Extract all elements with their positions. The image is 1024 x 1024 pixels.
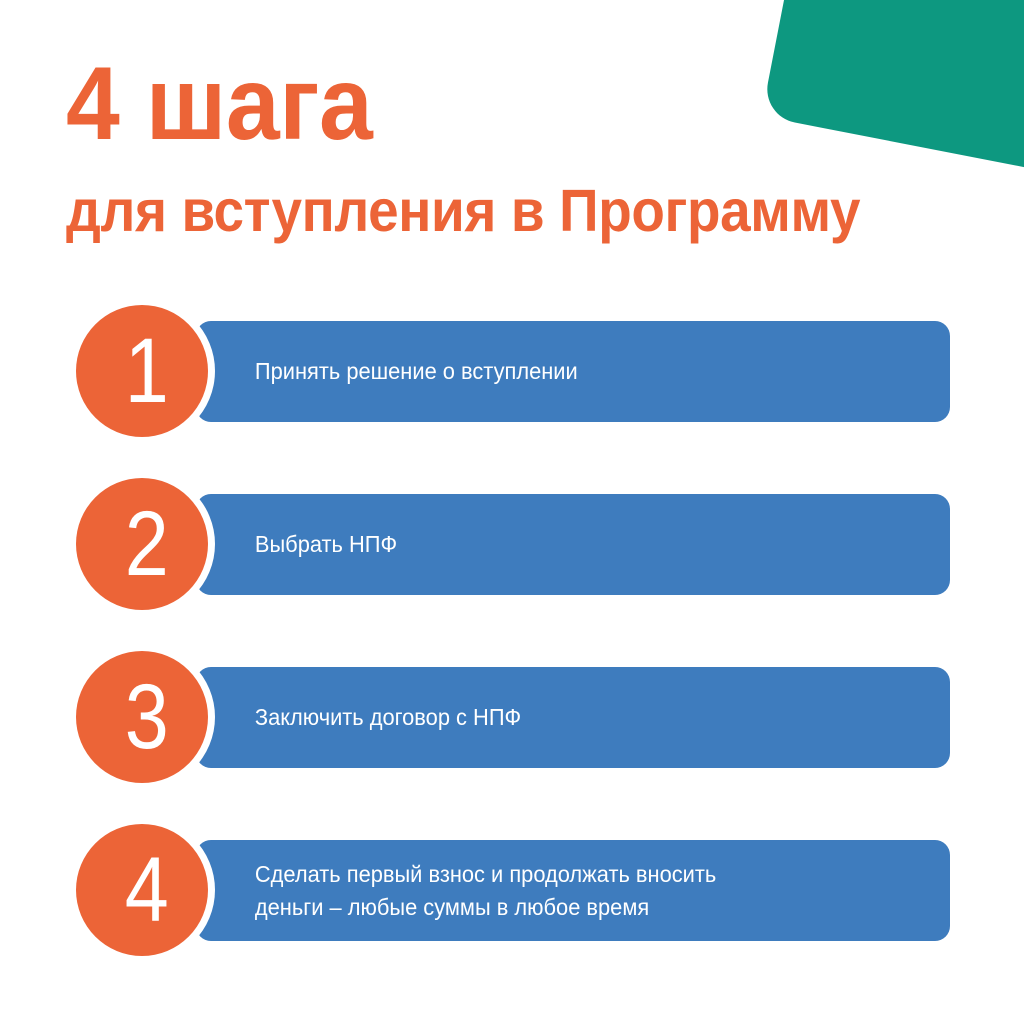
step-item-3: Заключить договор с НПФ 3 (0, 651, 1024, 784)
step-badge-3: 3 (76, 651, 208, 783)
page-title: 4 шага (66, 52, 903, 156)
step-bar-2: Выбрать НПФ (196, 494, 950, 595)
page-subtitle: для вступления в Программу (66, 182, 903, 241)
step-number-1: 1 (125, 325, 169, 417)
step-label-2: Выбрать НПФ (196, 528, 420, 561)
steps-list: Принять решение о вступлении 1 Выбрать Н… (0, 305, 1024, 957)
step-item-1: Принять решение о вступлении 1 (0, 305, 1024, 438)
infographic-canvas: 4 шага для вступления в Программу Принят… (0, 0, 1024, 1024)
step-item-2: Выбрать НПФ 2 (0, 478, 1024, 611)
step-item-4: Сделать первый взнос и продолжать вносит… (0, 824, 1024, 957)
step-label-4: Сделать первый взнос и продолжать вносит… (196, 858, 739, 923)
step-label-3: Заключить договор с НПФ (196, 701, 544, 734)
step-bar-4: Сделать первый взнос и продолжать вносит… (196, 840, 950, 941)
step-badge-2: 2 (76, 478, 208, 610)
step-number-4: 4 (125, 844, 169, 936)
step-badge-1: 1 (76, 305, 208, 437)
step-badge-4: 4 (76, 824, 208, 956)
step-number-3: 3 (125, 671, 169, 763)
step-bar-1: Принять решение о вступлении (196, 321, 950, 422)
step-number-2: 2 (125, 498, 169, 590)
step-bar-3: Заключить договор с НПФ (196, 667, 950, 768)
step-label-1: Принять решение о вступлении (196, 355, 601, 388)
heading-block: 4 шага для вступления в Программу (66, 52, 966, 241)
